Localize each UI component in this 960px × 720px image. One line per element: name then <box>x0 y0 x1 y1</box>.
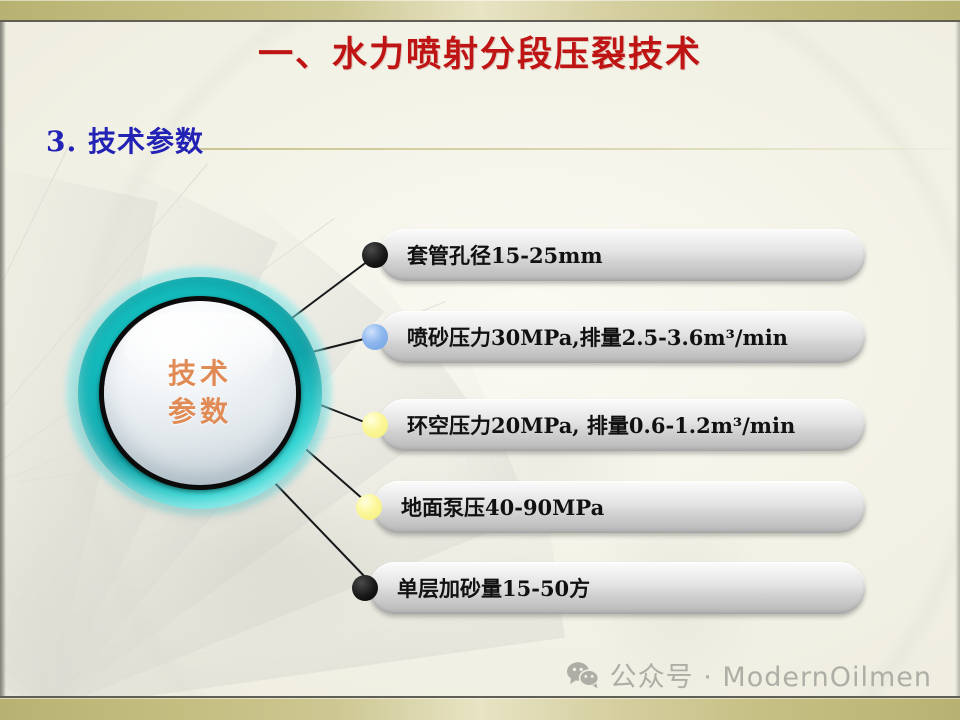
list-item[interactable]: 单层加砂量15-50方 <box>352 562 865 614</box>
parameter-pill[interactable]: 单层加砂量15-50方 <box>369 562 865 614</box>
bullet-dot-black <box>362 242 388 268</box>
slide-canvas: 一、水力喷射分段压裂技术 3. 技术参数 技术 参数 套管孔径15-25mm 喷… <box>0 0 960 720</box>
watermark-text: 公众号 · ModernOilmen <box>610 655 932 694</box>
watermark: 公众号 · ModernOilmen <box>566 655 932 694</box>
list-item[interactable]: 套管孔径15-25mm <box>362 229 865 281</box>
bullet-dot-yellow <box>356 494 382 520</box>
parameter-pill[interactable]: 套管孔径15-25mm <box>379 229 865 281</box>
parameter-text: 套管孔径15-25mm <box>407 240 603 270</box>
parameter-pill[interactable]: 喷砂压力30MPa,排量2.5-3.6m³/min <box>379 311 865 363</box>
list-item[interactable]: 地面泵压40-90MPa <box>356 481 865 533</box>
bullet-dot-blue <box>362 324 388 350</box>
bullet-dot-yellow <box>362 412 388 438</box>
parameter-text: 环空压力20MPa, 排量0.6-1.2m³/min <box>407 410 795 440</box>
list-item[interactable]: 环空压力20MPa, 排量0.6-1.2m³/min <box>362 399 865 451</box>
parameter-pill[interactable]: 环空压力20MPa, 排量0.6-1.2m³/min <box>379 399 865 451</box>
hub-label-line2: 参数 <box>168 393 232 431</box>
parameter-text: 地面泵压40-90MPa <box>401 492 604 522</box>
bullet-dot-black <box>352 575 378 601</box>
wechat-icon <box>566 661 600 689</box>
hub-label: 技术 参数 <box>78 277 322 509</box>
hub-label-line1: 技术 <box>168 355 232 393</box>
parameter-text: 喷砂压力30MPa,排量2.5-3.6m³/min <box>407 322 788 352</box>
list-item[interactable]: 喷砂压力30MPa,排量2.5-3.6m³/min <box>362 311 865 363</box>
hub-circle[interactable]: 技术 参数 <box>78 277 322 509</box>
parameter-pill[interactable]: 地面泵压40-90MPa <box>373 481 865 533</box>
parameter-text: 单层加砂量15-50方 <box>397 573 590 603</box>
